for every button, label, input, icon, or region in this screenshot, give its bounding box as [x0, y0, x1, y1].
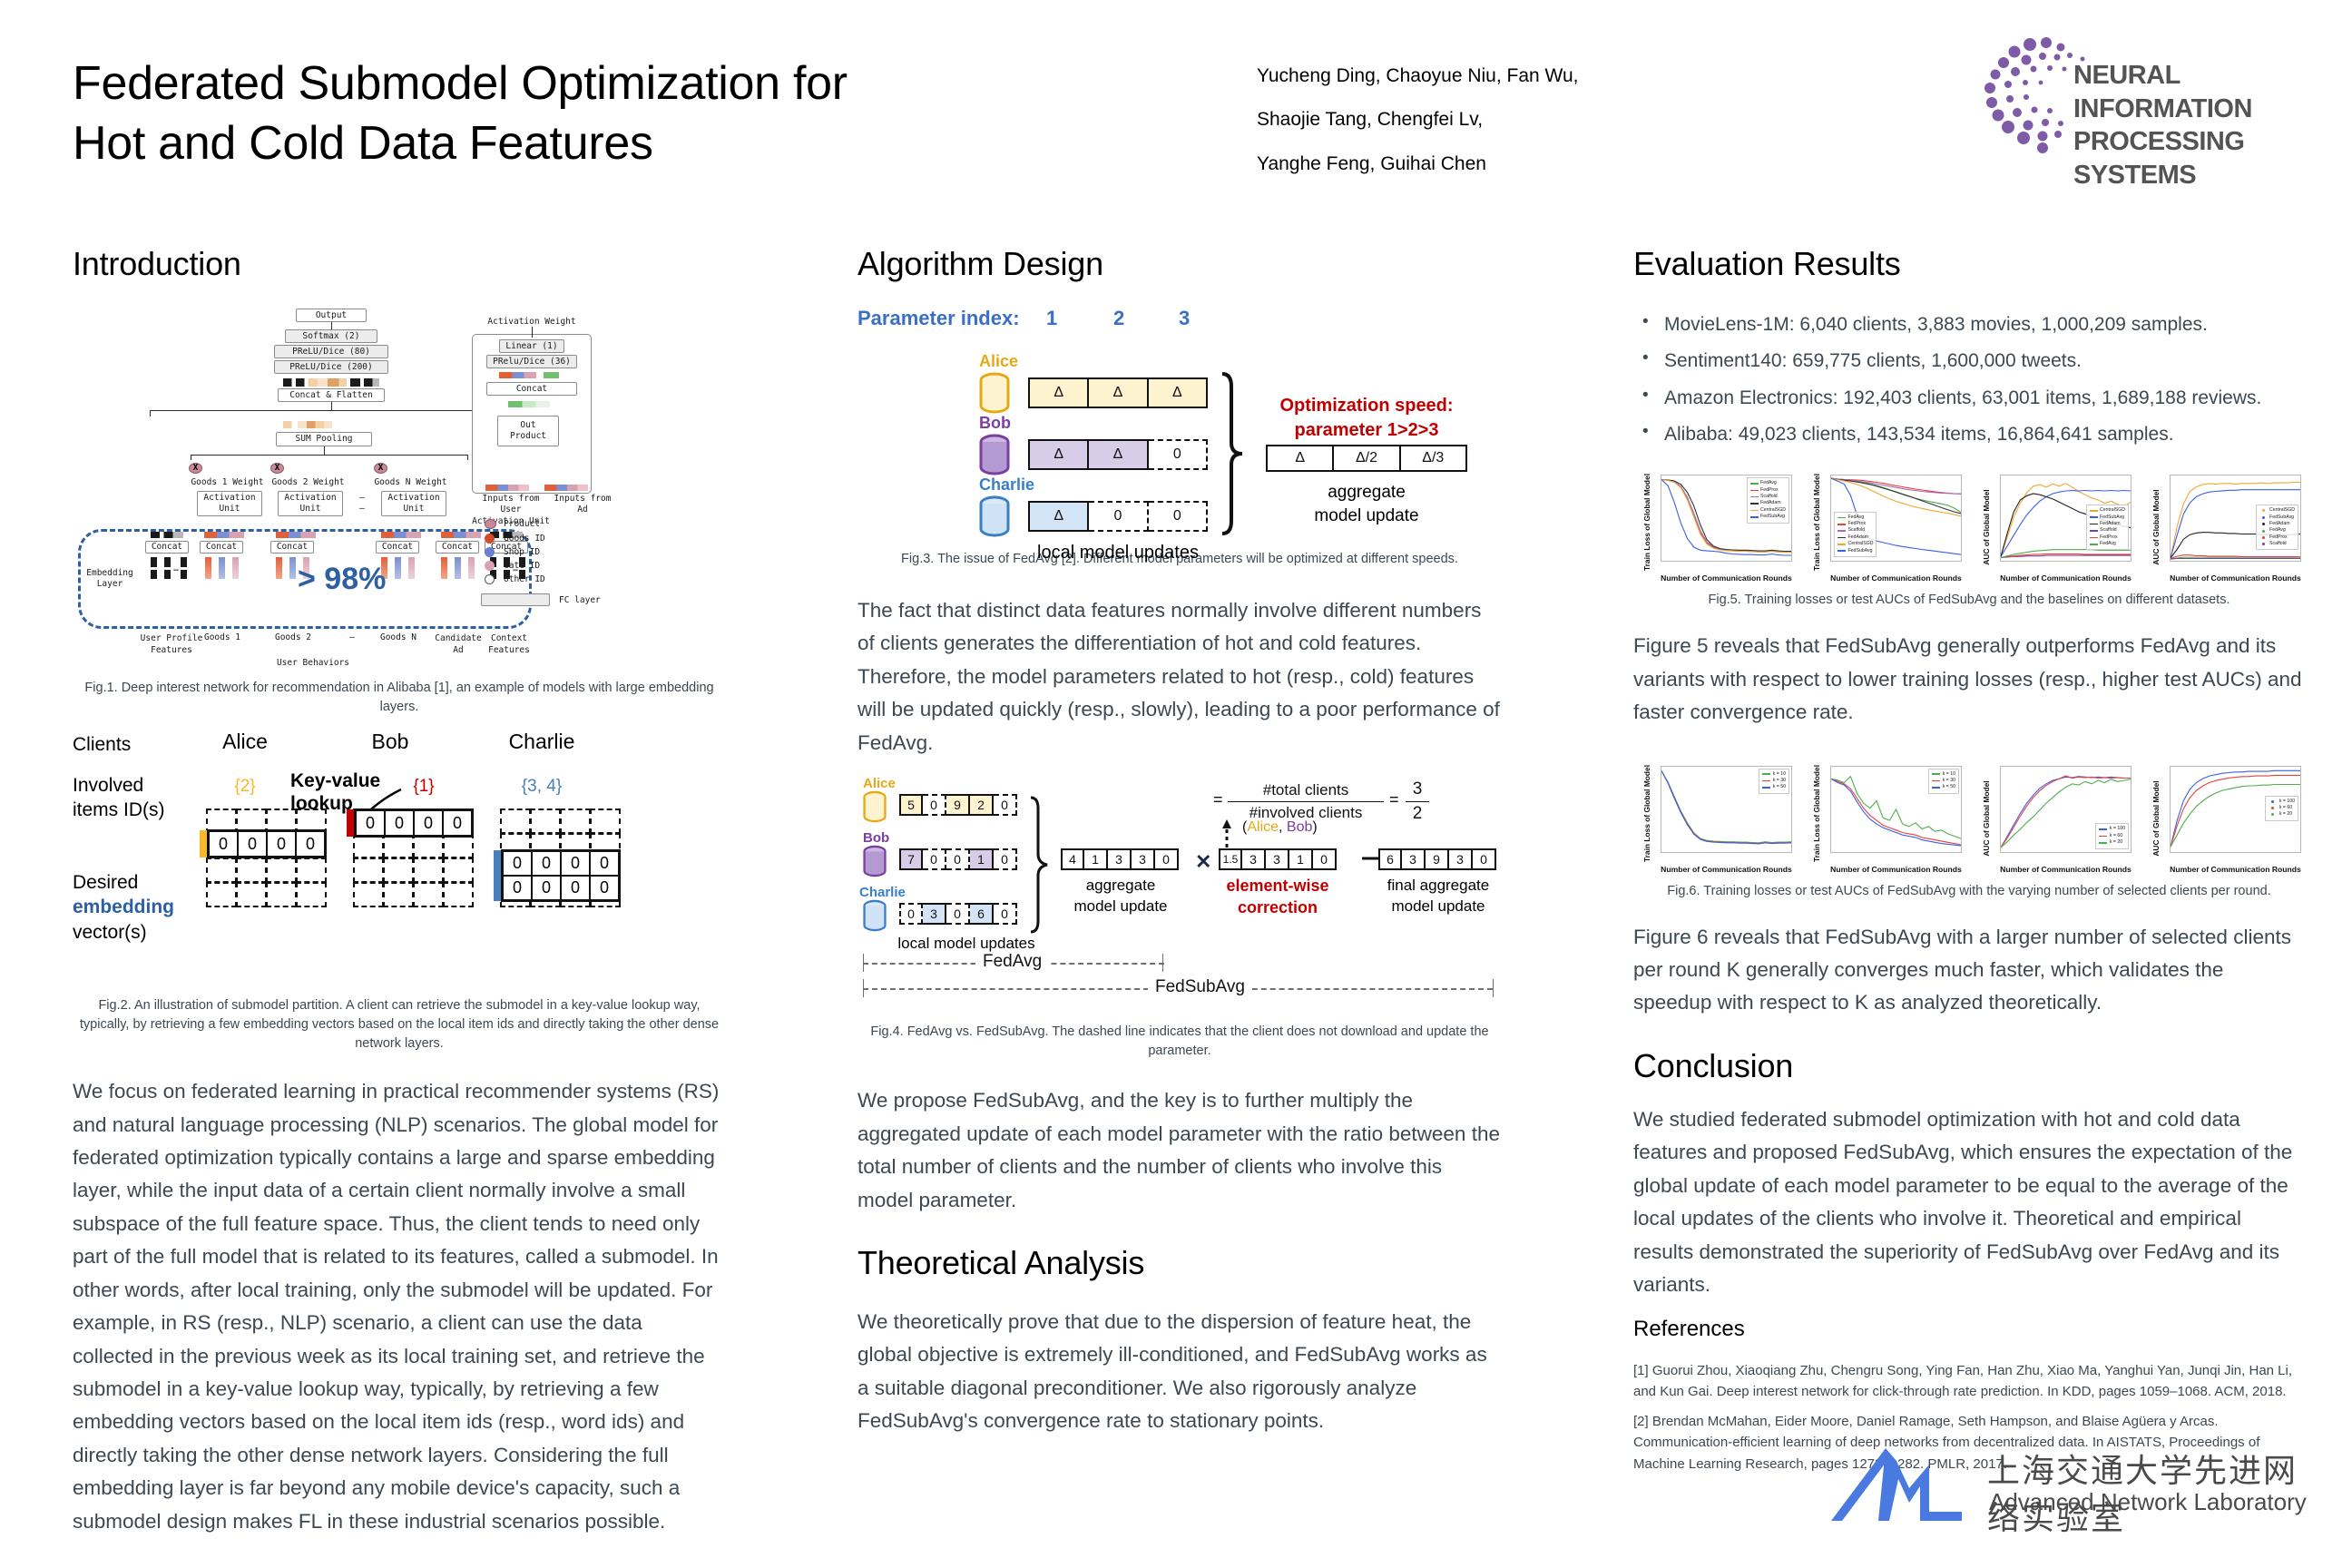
- chart-fig5-a: 0.300.350.400.450.500.550255075100125150…: [1633, 469, 1795, 585]
- chart-y-axis-label: AUC of Global Model: [2151, 484, 2161, 571]
- chart-fig6-d: 0.500.520.540.560.580.600.62010002000300…: [2142, 760, 2304, 877]
- cell: 0: [562, 852, 591, 875]
- database-icon-alice: [979, 372, 1010, 414]
- f4-correction-row: 1.5 3 3 1 0: [1219, 848, 1337, 870]
- poster-root: Federated Submodel Optimization for Hot …: [0, 0, 2352, 1568]
- node-concat-goods2: Concat: [270, 541, 314, 554]
- chart-legend-label: CentralSGD: [2100, 507, 2125, 514]
- column-algorithm: Algorithm Design Parameter index: 1 2 3 …: [857, 245, 1502, 1453]
- f3-client-alice-name: Alice: [979, 352, 1018, 371]
- chart-fig5-b: 0.20.30.40.50.60.702004006008001000FedAv…: [1803, 469, 1965, 585]
- chart-legend-item: k = 50: [1762, 784, 1786, 790]
- f4-ratio-fraction: #total clients #involved clients: [1228, 781, 1384, 822]
- cell: Δ/3: [1401, 445, 1467, 472]
- chart-legend-item: FedAdam: [1837, 534, 1873, 541]
- node-prelu-36: PRelu/Dice (36): [486, 355, 577, 368]
- cell: 3: [1242, 848, 1266, 870]
- cell: 6: [970, 903, 994, 925]
- list-item: Alibaba: 49,023 clients, 143,534 items, …: [1633, 416, 2305, 453]
- cell: Δ/2: [1334, 445, 1400, 472]
- chart-legend-label: k = 30: [1943, 778, 1955, 784]
- chart-legend-item: k = 30: [1762, 778, 1786, 784]
- chart-legend-swatch: [1762, 787, 1770, 789]
- legend-fc-layer: FC layer: [559, 595, 601, 605]
- chart-legend-swatch: [2262, 530, 2265, 533]
- chart-legend-swatch: [2262, 509, 2265, 512]
- f2-client-alice-ids: {2}: [209, 777, 281, 797]
- neurips-line-1: NEURAL INFORMATION: [2073, 59, 2327, 125]
- f2-desired-2: embedding: [73, 897, 174, 917]
- figure-6-caption: Fig.6. Training losses or test AUCs of F…: [1633, 882, 2305, 901]
- chart-legend-label: FedSubAvg: [1848, 548, 1873, 554]
- chart-y-axis-label: Train Loss of Global Model: [1642, 484, 1651, 571]
- chart-legend-label: FedProx: [2100, 534, 2118, 541]
- chart-legend-swatch: [2262, 516, 2265, 519]
- f2-label-involved-items: Involveditems ID(s): [73, 773, 165, 823]
- database-icon-bob-f4: [863, 845, 887, 877]
- node-prelu-80: PReLU/Dice (80): [274, 345, 388, 358]
- chart-legend-item: k = 50: [1932, 784, 1955, 790]
- f3-alice-update-row: Δ Δ Δ: [1028, 377, 1208, 408]
- chart-y-axis-label: Train Loss of Global Model: [1812, 775, 1821, 862]
- figure-3-fedavg-issue: Parameter index: 1 2 3 Alice Δ Δ Δ Bob: [857, 307, 1502, 543]
- concat-flatten-embedding-strip: [283, 378, 379, 387]
- f4-fedavg-label: FedAvg: [975, 952, 1049, 972]
- cell: 0: [946, 903, 970, 925]
- cell: 9: [946, 794, 970, 816]
- chart-legend-label: k = 50: [1943, 784, 1955, 790]
- chart-legend-swatch: [2271, 813, 2274, 816]
- f2-label-clients: Clients: [73, 733, 131, 757]
- chart-legend-label: FedAdam: [2269, 521, 2290, 527]
- f4-brace-icon: [1028, 796, 1050, 934]
- node-output: Output: [296, 309, 367, 322]
- f4-client-bob-name: Bob: [863, 830, 889, 846]
- cell: 0: [533, 852, 562, 875]
- chart-fig6-c: 0.520.540.560.580.600.620.64025507510012…: [1973, 760, 2134, 877]
- chart-legend-swatch: [1837, 530, 1846, 532]
- cell: 0: [297, 832, 324, 856]
- cell: 0: [946, 848, 970, 870]
- f2-alice-grid: [207, 809, 327, 907]
- chart-legend-label: Scaffold: [1848, 527, 1866, 534]
- chart-legend-label: FedProx: [1760, 487, 1779, 494]
- figure-4-caption: Fig.4. FedAvg vs. FedSubAvg. The dashed …: [857, 1023, 1502, 1061]
- chart-legend-item: FedSubAvg: [1837, 548, 1873, 554]
- f3-param-index-3: 3: [1179, 307, 1190, 330]
- cell: Δ: [1089, 377, 1148, 408]
- node-linear-1: Linear (1): [499, 339, 564, 353]
- cell: 0: [444, 811, 471, 835]
- cell: Δ: [1266, 445, 1334, 472]
- cell: 1.5: [1219, 848, 1242, 870]
- chart-legend-item: k = 100: [2269, 799, 2295, 805]
- f4-client-alice-name: Alice: [863, 776, 896, 791]
- chart-fig6-a: 0.300.350.400.450.500.550255075100125150…: [1633, 760, 1795, 877]
- chart-legend-label: CentralSGD: [1848, 541, 1874, 547]
- label-user-profile: User ProfileFeatures: [140, 633, 203, 657]
- figure-2-caption: Fig.2. An illustration of submodel parti…: [73, 996, 726, 1053]
- node-activation-unit-2: ActivationUnit: [278, 491, 343, 516]
- section-heading-algorithm-design: Algorithm Design: [857, 245, 1502, 283]
- chart-legend-item: CentralSGD: [2090, 507, 2125, 514]
- label-candidate-ad: CandidateAd: [432, 633, 485, 657]
- chart-legend-swatch: [1750, 503, 1759, 505]
- f3-optimization-speed-label: Optimization speed: parameter 1>2>3: [1253, 394, 1480, 443]
- f2-client-charlie-ids: {3, 4}: [492, 777, 592, 797]
- algorithm-paragraph-1: The fact that distinct data features nor…: [857, 594, 1502, 759]
- list-item: Sentiment140: 659,775 clients, 1,600,000…: [1633, 343, 2305, 379]
- chart-legend-item: k = 60: [2099, 833, 2125, 839]
- author-line-2: Shaojie Tang, Chengfei Lv,: [1257, 98, 1647, 142]
- chart-legend-swatch: [1932, 787, 1940, 789]
- database-icon-alice-f4: [863, 790, 887, 823]
- chart-legend-label: FedAvg: [2269, 527, 2286, 534]
- f2-client-charlie-name: Charlie: [483, 730, 601, 754]
- f4-ratio-value: 3 2: [1406, 779, 1429, 824]
- cell: 0: [1089, 501, 1148, 532]
- chart-x-axis-label: Number of Communication Rounds: [1830, 573, 1962, 583]
- chart-legend-item: k = 20: [2099, 839, 2125, 846]
- chart-legend-item: Scaffold: [1837, 527, 1873, 534]
- label-goods-1: Goods 1: [196, 633, 249, 643]
- chart-legend-label: FedAvg: [2100, 541, 2116, 547]
- f2-charlie-vector-2: 0 0 0 0: [501, 875, 621, 902]
- chart-series-line: [2171, 559, 2300, 560]
- node-concat-profile: Concat: [145, 541, 189, 554]
- legend-shop-id: Shop ID: [504, 547, 540, 557]
- chart-series-line: [2171, 555, 2300, 559]
- cell: 0: [923, 794, 946, 816]
- chart-legend-label: k = 20: [2110, 839, 2122, 846]
- chart-legend-swatch: [1932, 780, 1940, 782]
- cell: 3: [1266, 848, 1289, 870]
- node-activation-unit-n: ActivationUnit: [381, 491, 446, 516]
- cell: 0: [899, 903, 923, 925]
- f3-aggregate-label: aggregatemodel update: [1266, 481, 1467, 527]
- chart-legend-label: Scaffold: [2269, 541, 2287, 547]
- chart-legend: CentralSGDFedSubAvgFedAdamFedAvgFedProxS…: [2256, 505, 2298, 550]
- chart-legend-swatch: [2090, 524, 2098, 525]
- chart-fig5-d: 0.500.520.540.560.580.600.620.6401000200…: [2142, 469, 2304, 585]
- f2-desired-1: Desired: [73, 872, 138, 893]
- chart-legend-item: CentralSGD: [1750, 507, 1786, 514]
- cell: 0: [239, 832, 268, 856]
- label-embedding-layer: EmbeddingLayer: [82, 568, 138, 591]
- chart-legend-item: Scaffold: [2090, 527, 2125, 534]
- f4-client-charlie-name: Charlie: [859, 885, 906, 900]
- chart-x-axis-label: Number of Communication Rounds: [1830, 865, 1962, 874]
- cell: 2: [970, 794, 994, 816]
- f3-param-index-2: 2: [1113, 307, 1124, 330]
- chart-legend-swatch: [1837, 537, 1846, 539]
- chart-legend-swatch: [1932, 773, 1940, 775]
- chart-legend-label: k = 30: [1773, 778, 1786, 784]
- node-softmax: Softmax (2): [285, 329, 377, 343]
- section-heading-evaluation-results: Evaluation Results: [1633, 245, 2305, 283]
- cell: 0: [994, 848, 1017, 870]
- chart-legend-label: CentralSGD: [2269, 507, 2295, 514]
- chart-legend-item: FedSubAvg: [1750, 514, 1786, 520]
- chart-legend-label: FedAvg: [1848, 514, 1865, 521]
- chart-legend-label: CentralSGD: [1760, 507, 1786, 514]
- cell: Δ: [1149, 377, 1208, 408]
- column-evaluation: Evaluation Results MovieLens-1M: 6,040 c…: [1633, 245, 2305, 1484]
- cell: 0: [504, 877, 533, 899]
- chart-legend-swatch: [2262, 536, 2265, 539]
- label-user-behaviors: User Behaviors: [245, 659, 381, 669]
- cell: 0: [923, 848, 946, 870]
- node-sum-pooling: SUM Pooling: [276, 432, 372, 446]
- cell: 0: [357, 811, 386, 835]
- title-line-1: Federated Submodel Optimization for: [73, 54, 980, 114]
- f2-bob-vector: 0 0 0 0: [354, 808, 474, 838]
- cell: Δ: [1028, 501, 1089, 532]
- chart-legend-swatch: [1762, 780, 1770, 782]
- chart-legend-swatch: [1837, 517, 1846, 519]
- cell: 0: [504, 852, 533, 875]
- author-list: Yucheng Ding, Chaoyue Niu, Fan Wu, Shaoj…: [1257, 54, 1647, 186]
- f4-alice-row: 5 0 9 2 0: [899, 794, 1017, 816]
- cell: 0: [591, 877, 618, 899]
- f4-elementwise-correction-label: element-wise correction: [1210, 876, 1346, 918]
- chart-legend-swatch: [2090, 510, 2098, 512]
- chart-legend-label: Scaffold: [2100, 527, 2117, 534]
- section-heading-introduction: Introduction: [73, 245, 726, 283]
- f4-corr-line-2: correction: [1238, 898, 1318, 916]
- chart-legend-item: FedProx: [1837, 521, 1873, 527]
- chart-x-axis-label: Number of Communication Rounds: [2000, 573, 2131, 583]
- cell: 0: [1313, 848, 1337, 870]
- sjtu-anl-logo: 上海交通大学先进网络实验室 Advanced Network Laborator…: [1815, 1441, 2323, 1541]
- chart-x-axis-label: Number of Communication Rounds: [2000, 865, 2131, 874]
- chart-legend-item: FedAdam: [1750, 500, 1786, 506]
- chart-legend-item: FedAvg: [1750, 480, 1786, 486]
- f4-fedsubavg-label: FedSubAvg: [1148, 977, 1252, 997]
- f2-label-desired-embedding: Desired embedding vector(s): [73, 870, 174, 945]
- cell: 6: [1378, 848, 1402, 870]
- node-concat-candidate: Concat: [436, 541, 479, 554]
- page-title: Federated Submodel Optimization for Hot …: [73, 54, 980, 173]
- chart-legend-item: FedProx: [2259, 534, 2295, 541]
- chart-legend-swatch: [2262, 543, 2265, 545]
- chart-legend-swatch: [1762, 773, 1770, 775]
- chart-legend-label: FedAdam: [1848, 534, 1869, 541]
- chart-legend-swatch: [2099, 836, 2107, 838]
- f3-opt-line-2: parameter 1>2>3: [1294, 420, 1438, 440]
- chart-legend-swatch: [2090, 530, 2098, 532]
- f4-aggregate-row: 4 1 3 3 0: [1061, 848, 1179, 870]
- f3-client-charlie-name: Charlie: [979, 475, 1034, 495]
- chart-legend-item: k = 10: [1762, 771, 1786, 778]
- node-concat-goodsN: Concat: [376, 541, 419, 554]
- f2-charlie-vector-1: 0 0 0 0: [501, 849, 621, 877]
- chart-legend-swatch: [1750, 490, 1759, 492]
- chart-legend-item: Scaffold: [2259, 541, 2295, 547]
- chart-legend-item: k = 30: [1932, 778, 1955, 784]
- neurips-logo: NEURAL INFORMATION PROCESSING SYSTEMS: [1974, 32, 2327, 154]
- label-goods1-weight: Goods 1 Weight: [184, 478, 270, 488]
- cell: 7: [899, 848, 923, 870]
- column-introduction: Introduction Output Softmax (2) PReLU/Di…: [73, 245, 726, 1553]
- chart-y-axis-label: Train Loss of Global Model: [1812, 484, 1821, 571]
- chart-legend-label: FedAvg: [1760, 480, 1777, 486]
- theoretical-analysis-body: We theoretically prove that due to the d…: [857, 1306, 1502, 1438]
- poster-header: Federated Submodel Optimization for Hot …: [0, 0, 2352, 209]
- chart-legend-label: k = 20: [2279, 811, 2292, 818]
- cell: 0: [1149, 501, 1208, 532]
- label-context-features: ContextFeatures: [483, 633, 535, 657]
- chart-legend-label: k = 60: [2110, 833, 2122, 839]
- chart-legend-swatch: [1750, 510, 1759, 512]
- f3-brace-icon: [1219, 372, 1246, 535]
- chart-legend-swatch: [1750, 496, 1759, 498]
- section-heading-references: References: [1633, 1317, 2305, 1342]
- cell: 3: [1449, 848, 1473, 870]
- chart-legend-item: FedSubAvg: [2259, 514, 2295, 521]
- f3-aggregate-row: Δ Δ/2 Δ/3: [1266, 445, 1467, 472]
- chart-legend-item: Scaffold: [1750, 494, 1786, 500]
- legend-other-id: Other ID: [504, 574, 545, 584]
- cell: 0: [268, 832, 297, 856]
- cell: 3: [1108, 848, 1132, 870]
- label-goods2-weight: Goods 2 Weight: [265, 478, 351, 488]
- f3-charlie-update-row: Δ 0 0: [1028, 501, 1208, 532]
- sum-pooling-strip: [283, 421, 332, 428]
- cell: 4: [1061, 848, 1084, 870]
- f2-client-alice-name: Alice: [191, 730, 299, 754]
- chart-x-axis-label: Number of Communication Rounds: [1661, 865, 1792, 874]
- sjtu-english-name: Advanced Network Laboratory: [1989, 1488, 2307, 1516]
- figure-1-din-diagram: Output Softmax (2) PReLU/Dice (80) PReLU…: [73, 307, 726, 579]
- chart-x-axis-label: Number of Communication Rounds: [2170, 865, 2301, 874]
- f4-ratio-numerator: #total clients: [1228, 781, 1384, 802]
- database-icon-charlie-f4: [863, 899, 887, 932]
- chart-legend-item: FedAvg: [2259, 527, 2295, 534]
- chart-legend-label: FedProx: [1848, 521, 1867, 527]
- cell: 0: [994, 794, 1017, 816]
- figure-6-charts: 0.300.350.400.450.500.550255075100125150…: [1633, 760, 2305, 877]
- cell: Δ: [1028, 439, 1089, 470]
- algorithm-paragraph-2: We propose FedSubAvg, and the key is to …: [857, 1084, 1502, 1217]
- figure-5-discussion: Figure 5 reveals that FedSubAvg generall…: [1633, 630, 2305, 729]
- f4-note-bob: Bob: [1287, 819, 1312, 835]
- highlight-98-percent: > 98%: [298, 562, 386, 597]
- f4-corr-line-1: element-wise: [1226, 877, 1328, 895]
- chart-legend-swatch: [2271, 800, 2274, 803]
- f3-bob-update-row: Δ Δ 0: [1028, 439, 1208, 470]
- chart-legend-item: k = 10: [1932, 771, 1955, 778]
- list-item: MovieLens-1M: 6,040 clients, 3,883 movie…: [1633, 307, 2305, 343]
- chart-legend: FedAvgFedProxScaffoldFedAdamCentralSGDFe…: [1834, 512, 1877, 557]
- chart-legend-swatch: [2099, 828, 2107, 830]
- anl-mark-icon: [1815, 1441, 1978, 1532]
- cell: 0: [415, 811, 444, 835]
- chart-legend-label: FedSubAvg: [2100, 514, 2124, 521]
- chart-legend: CentralSGDFedSubAvgFedAdamScaffoldFedPro…: [2086, 505, 2129, 550]
- section-heading-theoretical-analysis: Theoretical Analysis: [857, 1244, 1502, 1282]
- cell: 0: [1149, 439, 1208, 470]
- chart-legend: k = 10k = 30k = 50: [1928, 769, 1959, 794]
- chart-legend-label: FedSubAvg: [1760, 514, 1785, 520]
- chart-legend-item: k = 60: [2269, 805, 2295, 811]
- figure-5-charts: 0.300.350.400.450.500.550255075100125150…: [1633, 469, 2305, 585]
- conclusion-body: We studied federated submodel optimizati…: [1633, 1103, 2305, 1302]
- chart-legend-item: k = 100: [2099, 826, 2125, 832]
- chart-legend: k = 100k = 60k = 20: [2095, 823, 2129, 848]
- figure-4-fedavg-vs-fedsubavg: Alice 5 0 9 2 0 Bob 7 0 0 1: [857, 774, 1502, 992]
- chart-legend-label: FedSubAvg: [2269, 514, 2294, 521]
- chart-legend-swatch: [1750, 516, 1759, 518]
- cell: 1: [1289, 848, 1313, 870]
- chart-legend-label: FedAdam: [2100, 521, 2121, 527]
- list-item: Amazon Electronics: 192,403 clients, 63,…: [1633, 380, 2305, 416]
- cell: 0: [533, 877, 562, 899]
- f3-param-index-1: 1: [1046, 307, 1057, 330]
- cell: 0: [1155, 848, 1179, 870]
- chart-x-axis-label: Number of Communication Rounds: [2170, 573, 2301, 583]
- chart-legend-label: k = 10: [1943, 771, 1955, 778]
- cell: 0: [1473, 848, 1496, 870]
- label-goodsN-weight: Goods N Weight: [367, 478, 454, 488]
- chart-legend-item: CentralSGD: [2259, 507, 2295, 514]
- chart-legend-item: k = 20: [2269, 811, 2295, 818]
- chart-legend-swatch: [2262, 523, 2265, 525]
- neurips-wordmark: NEURAL INFORMATION PROCESSING SYSTEMS: [2073, 59, 2327, 191]
- legend-product: Product: [504, 519, 540, 529]
- chart-legend: k = 100k = 60k = 20: [2265, 796, 2298, 821]
- chart-legend-item: FedAvg: [1837, 514, 1873, 521]
- database-icon-bob: [979, 434, 1010, 475]
- f2-client-bob-name: Bob: [336, 730, 445, 754]
- f2-desired-3: vector(s): [73, 922, 147, 943]
- chart-legend-swatch: [1837, 524, 1846, 525]
- chart-legend-item: FedSubAvg: [2090, 514, 2125, 521]
- dataset-list: MovieLens-1M: 6,040 clients, 3,883 movie…: [1633, 307, 2305, 453]
- author-line-3: Yanghe Feng, Guihai Chen: [1257, 142, 1647, 186]
- chart-legend-item: CentralSGD: [1837, 541, 1873, 547]
- f4-aggregate-label: aggregatemodel update: [1053, 876, 1188, 917]
- figure-6-discussion: Figure 6 reveals that FedSubAvg with a l…: [1633, 921, 2305, 1020]
- chart-legend-swatch: [2099, 842, 2107, 844]
- chart-x-axis-label: Number of Communication Rounds: [1661, 573, 1792, 583]
- chart-y-axis-label: AUC of Global Model: [2151, 775, 2161, 862]
- legend-goods-id: Goods ID: [504, 534, 545, 544]
- chart-legend-item: FedAdam: [2259, 521, 2295, 527]
- chart-legend-item: FedAdam: [2090, 521, 2125, 527]
- f3-client-bob-name: Bob: [979, 414, 1011, 433]
- label-goods-2: Goods 2: [267, 633, 319, 643]
- f4-note-alice: Alice: [1247, 819, 1279, 835]
- chart-legend-item: FedProx: [1750, 487, 1786, 494]
- cell: 0: [994, 903, 1017, 925]
- chart-legend-item: FedProx: [2090, 534, 2125, 541]
- cell: 3: [923, 903, 946, 925]
- chart-legend-label: Scaffold: [1760, 494, 1778, 500]
- chart-fig6-b: 0.20.30.40.50.60.70.802004006008001000k …: [1803, 760, 1965, 877]
- cell: 1: [970, 848, 994, 870]
- figure-5-caption: Fig.5. Training losses or test AUCs of F…: [1633, 591, 2305, 610]
- legend-cate-id: Cate ID: [504, 561, 540, 571]
- figure-1-caption: Fig.1. Deep interest network for recomme…: [73, 679, 726, 717]
- chart-legend: k = 10k = 30k = 50: [1759, 769, 1789, 794]
- chart-y-axis-label: AUC of Global Model: [1982, 484, 1991, 571]
- chart-legend-swatch: [2271, 807, 2274, 809]
- section-heading-conclusion: Conclusion: [1633, 1047, 2305, 1085]
- node-prelu-200: PReLU/Dice (200): [274, 360, 388, 374]
- f3-local-updates-label: local model updates: [1014, 541, 1222, 564]
- reference-item: [1] Guorui Zhou, Xiaoqiang Zhu, Chengru …: [1633, 1360, 2305, 1403]
